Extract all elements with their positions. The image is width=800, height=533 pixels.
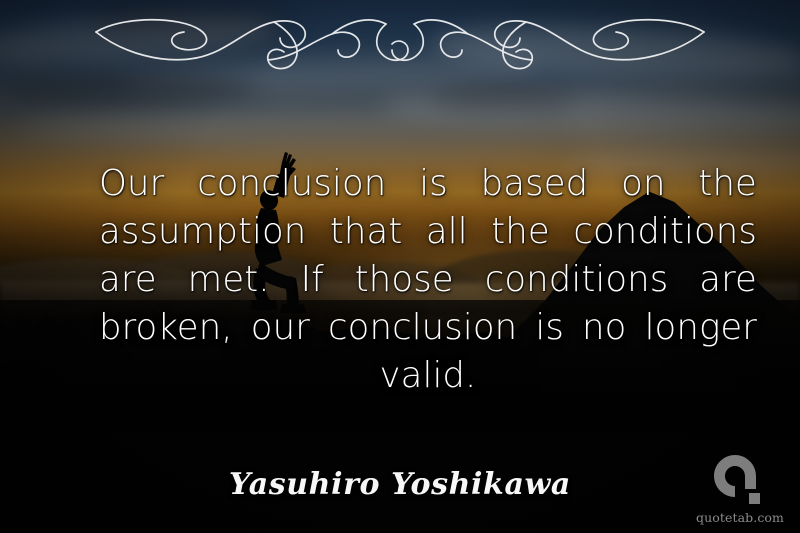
watermark-site-label: quotetab.com [694, 511, 786, 525]
quote-card: Our conclusion is based on the assumptio… [0, 0, 800, 533]
quote-author: Yasuhiro Yoshikawa [0, 466, 800, 504]
quote-text: Our conclusion is based on the assumptio… [99, 160, 757, 400]
flourish-divider-ornament [88, 8, 712, 72]
card-content: Our conclusion is based on the assumptio… [0, 0, 800, 533]
watermark[interactable]: quotetab.com [694, 453, 786, 525]
quotetab-q-logo-icon [712, 453, 768, 509]
